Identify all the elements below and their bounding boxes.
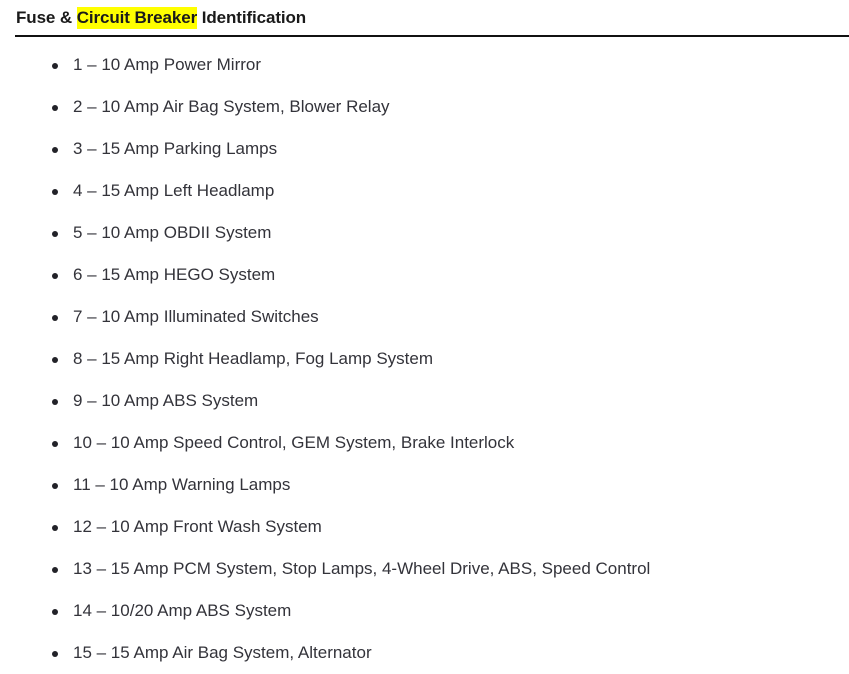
list-item: 6 – 15 Amp HEGO System <box>0 254 849 296</box>
fuse-item-text: 11 – 10 Amp Warning Lamps <box>73 475 290 494</box>
list-item: 5 – 10 Amp OBDII System <box>0 212 849 254</box>
fuse-item-text: 4 – 15 Amp Left Headlamp <box>73 181 274 200</box>
bullet-icon <box>52 231 58 237</box>
list-item: 9 – 10 Amp ABS System <box>0 380 849 422</box>
document-page: Fuse & Circuit Breaker Identification 1 … <box>0 0 849 673</box>
fuse-item-text: 3 – 15 Amp Parking Lamps <box>73 139 277 158</box>
list-item: 11 – 10 Amp Warning Lamps <box>0 464 849 506</box>
bullet-icon <box>52 441 58 447</box>
fuse-item-text: 15 – 15 Amp Air Bag System, Alternator <box>73 643 372 662</box>
bullet-icon <box>52 189 58 195</box>
list-item: 1 – 10 Amp Power Mirror <box>0 44 849 86</box>
bullet-icon <box>52 357 58 363</box>
fuse-item-text: 13 – 15 Amp PCM System, Stop Lamps, 4-Wh… <box>73 559 650 578</box>
fuse-identification-list: 1 – 10 Amp Power Mirror 2 – 10 Amp Air B… <box>0 44 849 674</box>
bullet-icon <box>52 567 58 573</box>
fuse-item-text: 1 – 10 Amp Power Mirror <box>73 55 261 74</box>
bullet-icon <box>52 315 58 321</box>
list-item: 15 – 15 Amp Air Bag System, Alternator <box>0 632 849 674</box>
page-title-prefix: Fuse & <box>16 8 77 27</box>
page-title: Fuse & Circuit Breaker Identification <box>0 0 849 34</box>
fuse-item-text: 10 – 10 Amp Speed Control, GEM System, B… <box>73 433 514 452</box>
list-item: 12 – 10 Amp Front Wash System <box>0 506 849 548</box>
bullet-icon <box>52 273 58 279</box>
list-item: 8 – 15 Amp Right Headlamp, Fog Lamp Syst… <box>0 338 849 380</box>
bullet-icon <box>52 63 58 69</box>
bullet-icon <box>52 651 58 657</box>
heading-block: Fuse & Circuit Breaker Identification <box>0 0 849 34</box>
list-item: 10 – 10 Amp Speed Control, GEM System, B… <box>0 422 849 464</box>
list-item: 13 – 15 Amp PCM System, Stop Lamps, 4-Wh… <box>0 548 849 590</box>
page-title-highlight: Circuit Breaker <box>77 7 197 29</box>
bullet-icon <box>52 609 58 615</box>
list-item: 14 – 10/20 Amp ABS System <box>0 590 849 632</box>
fuse-item-text: 2 – 10 Amp Air Bag System, Blower Relay <box>73 97 390 116</box>
list-item: 7 – 10 Amp Illuminated Switches <box>0 296 849 338</box>
fuse-item-text: 12 – 10 Amp Front Wash System <box>73 517 322 536</box>
fuse-item-text: 7 – 10 Amp Illuminated Switches <box>73 307 319 326</box>
list-item: 4 – 15 Amp Left Headlamp <box>0 170 849 212</box>
bullet-icon <box>52 147 58 153</box>
fuse-item-text: 5 – 10 Amp OBDII System <box>73 223 271 242</box>
fuse-item-text: 9 – 10 Amp ABS System <box>73 391 258 410</box>
list-item: 2 – 10 Amp Air Bag System, Blower Relay <box>0 86 849 128</box>
bullet-icon <box>52 525 58 531</box>
page-title-suffix: Identification <box>197 8 306 27</box>
list-item: 3 – 15 Amp Parking Lamps <box>0 128 849 170</box>
fuse-item-text: 14 – 10/20 Amp ABS System <box>73 601 291 620</box>
bullet-icon <box>52 105 58 111</box>
bullet-icon <box>52 399 58 405</box>
fuse-item-text: 8 – 15 Amp Right Headlamp, Fog Lamp Syst… <box>73 349 433 368</box>
fuse-item-text: 6 – 15 Amp HEGO System <box>73 265 275 284</box>
bullet-icon <box>52 483 58 489</box>
heading-divider <box>15 35 849 37</box>
